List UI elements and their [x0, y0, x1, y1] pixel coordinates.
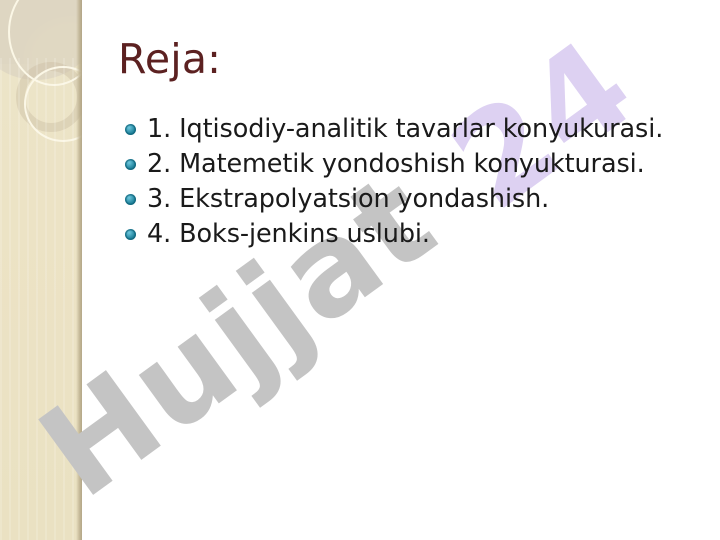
sidebar-pinstripe-texture: [0, 58, 82, 540]
bullet-dot-icon: [125, 124, 136, 135]
bullet-dot-icon: [125, 229, 136, 240]
bullet-dot-icon: [125, 159, 136, 170]
bullet-dot-icon: [125, 194, 136, 205]
list-item: 4. Boks-jenkins uslubi.: [122, 218, 682, 251]
slide-content: Reja: 1. Iqtisodiy-analitik tavarlar kon…: [82, 0, 720, 540]
list-item-label: 4. Boks-jenkins uslubi.: [147, 219, 430, 249]
list-item: 1. Iqtisodiy-analitik tavarlar konyukura…: [122, 113, 682, 146]
decorative-sidebar: [0, 0, 82, 540]
list-item: 2. Matemetik yondoshish konyukturasi.: [122, 148, 682, 181]
list-item-label: 3. Ekstrapolyatsion yondashish.: [147, 184, 549, 214]
list-item-label: 2. Matemetik yondoshish konyukturasi.: [147, 149, 645, 179]
page-title: Reja:: [118, 38, 221, 81]
presentation-slide: Hujjat 24 Reja: 1. Iqtisodiy-analitik ta…: [0, 0, 720, 540]
list-item-label: 1. Iqtisodiy-analitik tavarlar konyukura…: [147, 114, 663, 144]
agenda-bullet-list: 1. Iqtisodiy-analitik tavarlar konyukura…: [122, 113, 682, 254]
list-item: 3. Ekstrapolyatsion yondashish.: [122, 183, 682, 216]
